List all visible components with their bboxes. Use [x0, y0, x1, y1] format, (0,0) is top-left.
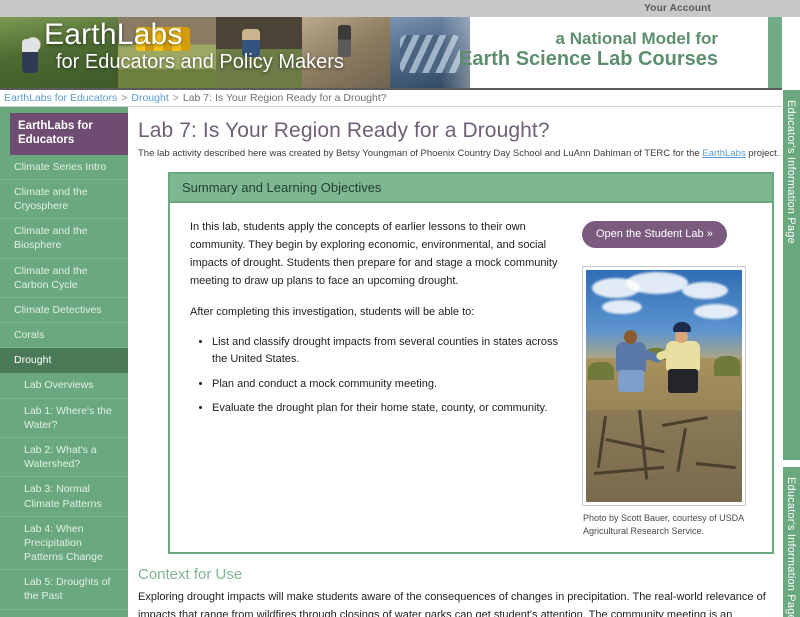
sidebar-item-drought[interactable]: Drought	[0, 348, 128, 373]
byline-text-after: project.	[746, 148, 780, 159]
summary-box: Summary and Learning Objectives In this …	[168, 172, 774, 554]
context-for-use-title: Context for Use	[138, 566, 786, 583]
summary-box-body: In this lab, students apply the concepts…	[170, 203, 772, 552]
sidebar-item-climate-and-the-carbon-cycle[interactable]: Climate and the Carbon Cycle	[0, 259, 128, 298]
banner-photo-workers-boat	[118, 17, 216, 90]
grass-tuft	[714, 356, 740, 376]
breadcrumb-separator: >	[121, 92, 127, 104]
drought-photo	[586, 270, 742, 502]
context-for-use-body: Exploring drought impacts will make stud…	[138, 589, 786, 617]
tab-educators-information-page-2[interactable]: Educator's Information Page	[782, 467, 800, 617]
cloud-shape	[626, 272, 688, 294]
soil-crack	[605, 438, 664, 453]
page-body: EarthLabs for Educators Climate Series I…	[0, 107, 800, 617]
learning-objective: List and classify drought impacts from s…	[212, 334, 570, 368]
sidebar-item-lab-2-what-s-a-watershed[interactable]: Lab 2: What's a Watershed?	[0, 438, 128, 477]
person-cap	[673, 322, 691, 332]
summary-paragraph-2: After completing this investigation, stu…	[190, 304, 570, 322]
byline-text-before: The lab activity described here was crea…	[138, 148, 702, 159]
grass-tuft	[588, 362, 614, 380]
soil-crack	[597, 416, 607, 468]
main-content: Lab 7: Is Your Region Ready for a Drough…	[128, 107, 800, 617]
banner-tagline-line1: a National Model for	[459, 29, 718, 48]
soil-crack	[676, 428, 687, 472]
banner-photo-farmer-field	[0, 17, 118, 90]
summary-text-column: In this lab, students apply the concepts…	[178, 213, 580, 538]
banner-photo-person-streambank	[216, 17, 302, 90]
breadcrumb-separator: >	[173, 92, 179, 104]
sidebar-item-climate-and-the-biosphere[interactable]: Climate and the Biosphere	[0, 219, 128, 258]
soil-crack	[594, 466, 664, 475]
learning-objective: Evaluate the drought plan for their home…	[212, 400, 570, 417]
page-title: Lab 7: Is Your Region Ready for a Drough…	[138, 119, 786, 143]
learning-objective: Plan and conduct a mock community meetin…	[212, 376, 570, 393]
site-banner: EarthLabs for Educators and Policy Maker…	[0, 17, 782, 90]
sidebar: EarthLabs for Educators Climate Series I…	[0, 107, 128, 617]
banner-photo-person-digging	[302, 17, 390, 90]
your-account-link[interactable]: Your Account	[644, 3, 711, 14]
breadcrumb-current-page: Lab 7: Is Your Region Ready for a Drough…	[183, 92, 387, 104]
photo-caption: Photo by Scott Bauer, courtesy of USDA A…	[583, 512, 753, 538]
cloud-shape	[602, 300, 642, 314]
sidebar-item-climate-detectives[interactable]: Climate Detectives	[0, 298, 128, 323]
breadcrumb-item-drought[interactable]: Drought	[131, 92, 168, 104]
tab-educators-information-page-1[interactable]: Educator's Information Page	[782, 90, 800, 460]
cloud-shape	[694, 304, 738, 319]
banner-photo-strip	[0, 17, 520, 90]
learning-objectives-list: List and classify drought impacts from s…	[190, 334, 570, 416]
sidebar-nav-list: Climate Series IntroClimate and the Cryo…	[0, 155, 128, 610]
sidebar-item-lab-overviews[interactable]: Lab Overviews	[0, 373, 128, 398]
soil-crack	[696, 462, 736, 469]
cloud-shape	[682, 282, 728, 299]
page-byline: The lab activity described here was crea…	[138, 148, 786, 160]
breadcrumb-item-earthlabs-for-educators[interactable]: EarthLabs for Educators	[4, 92, 117, 104]
sidebar-item-lab-5-droughts-of-the-past[interactable]: Lab 5: Droughts of the Past	[0, 570, 128, 609]
sidebar-item-climate-and-the-cryosphere[interactable]: Climate and the Cryosphere	[0, 180, 128, 219]
sidebar-header: EarthLabs for Educators	[10, 113, 128, 155]
sidebar-item-lab-3-normal-climate-patterns[interactable]: Lab 3: Normal Climate Patterns	[0, 477, 128, 516]
breadcrumb: EarthLabs for Educators > Drought > Lab …	[0, 90, 782, 107]
person-legs	[668, 369, 698, 393]
banner-tagline: a National Model for Earth Science Lab C…	[459, 29, 718, 70]
sidebar-item-lab-1-where-s-the-water[interactable]: Lab 1: Where's the Water?	[0, 399, 128, 438]
summary-media-column: Open the Student Lab »	[580, 213, 762, 538]
sidebar-item-corals[interactable]: Corals	[0, 323, 128, 348]
person-legs	[618, 370, 644, 392]
soil-crack	[662, 416, 708, 427]
byline-earthlabs-link[interactable]: EarthLabs	[702, 148, 745, 159]
summary-paragraph-1: In this lab, students apply the concepts…	[190, 219, 570, 290]
right-vertical-tab-strip: Educator's Information Page Educator's I…	[782, 17, 800, 600]
open-student-lab-button[interactable]: Open the Student Lab »	[582, 221, 727, 248]
cracked-soil-area	[586, 410, 742, 502]
banner-tagline-line2: Earth Science Lab Courses	[459, 48, 718, 70]
summary-box-header: Summary and Learning Objectives	[170, 174, 772, 203]
drought-photo-frame	[582, 266, 746, 506]
person-torso	[616, 342, 646, 372]
sidebar-item-lab-4-when-precipitation-patterns-change[interactable]: Lab 4: When Precipitation Patterns Chang…	[0, 517, 128, 571]
top-utility-bar: Your Account	[0, 0, 800, 17]
banner-right-accent	[768, 17, 782, 90]
sidebar-item-climate-series-intro[interactable]: Climate Series Intro	[0, 155, 128, 180]
